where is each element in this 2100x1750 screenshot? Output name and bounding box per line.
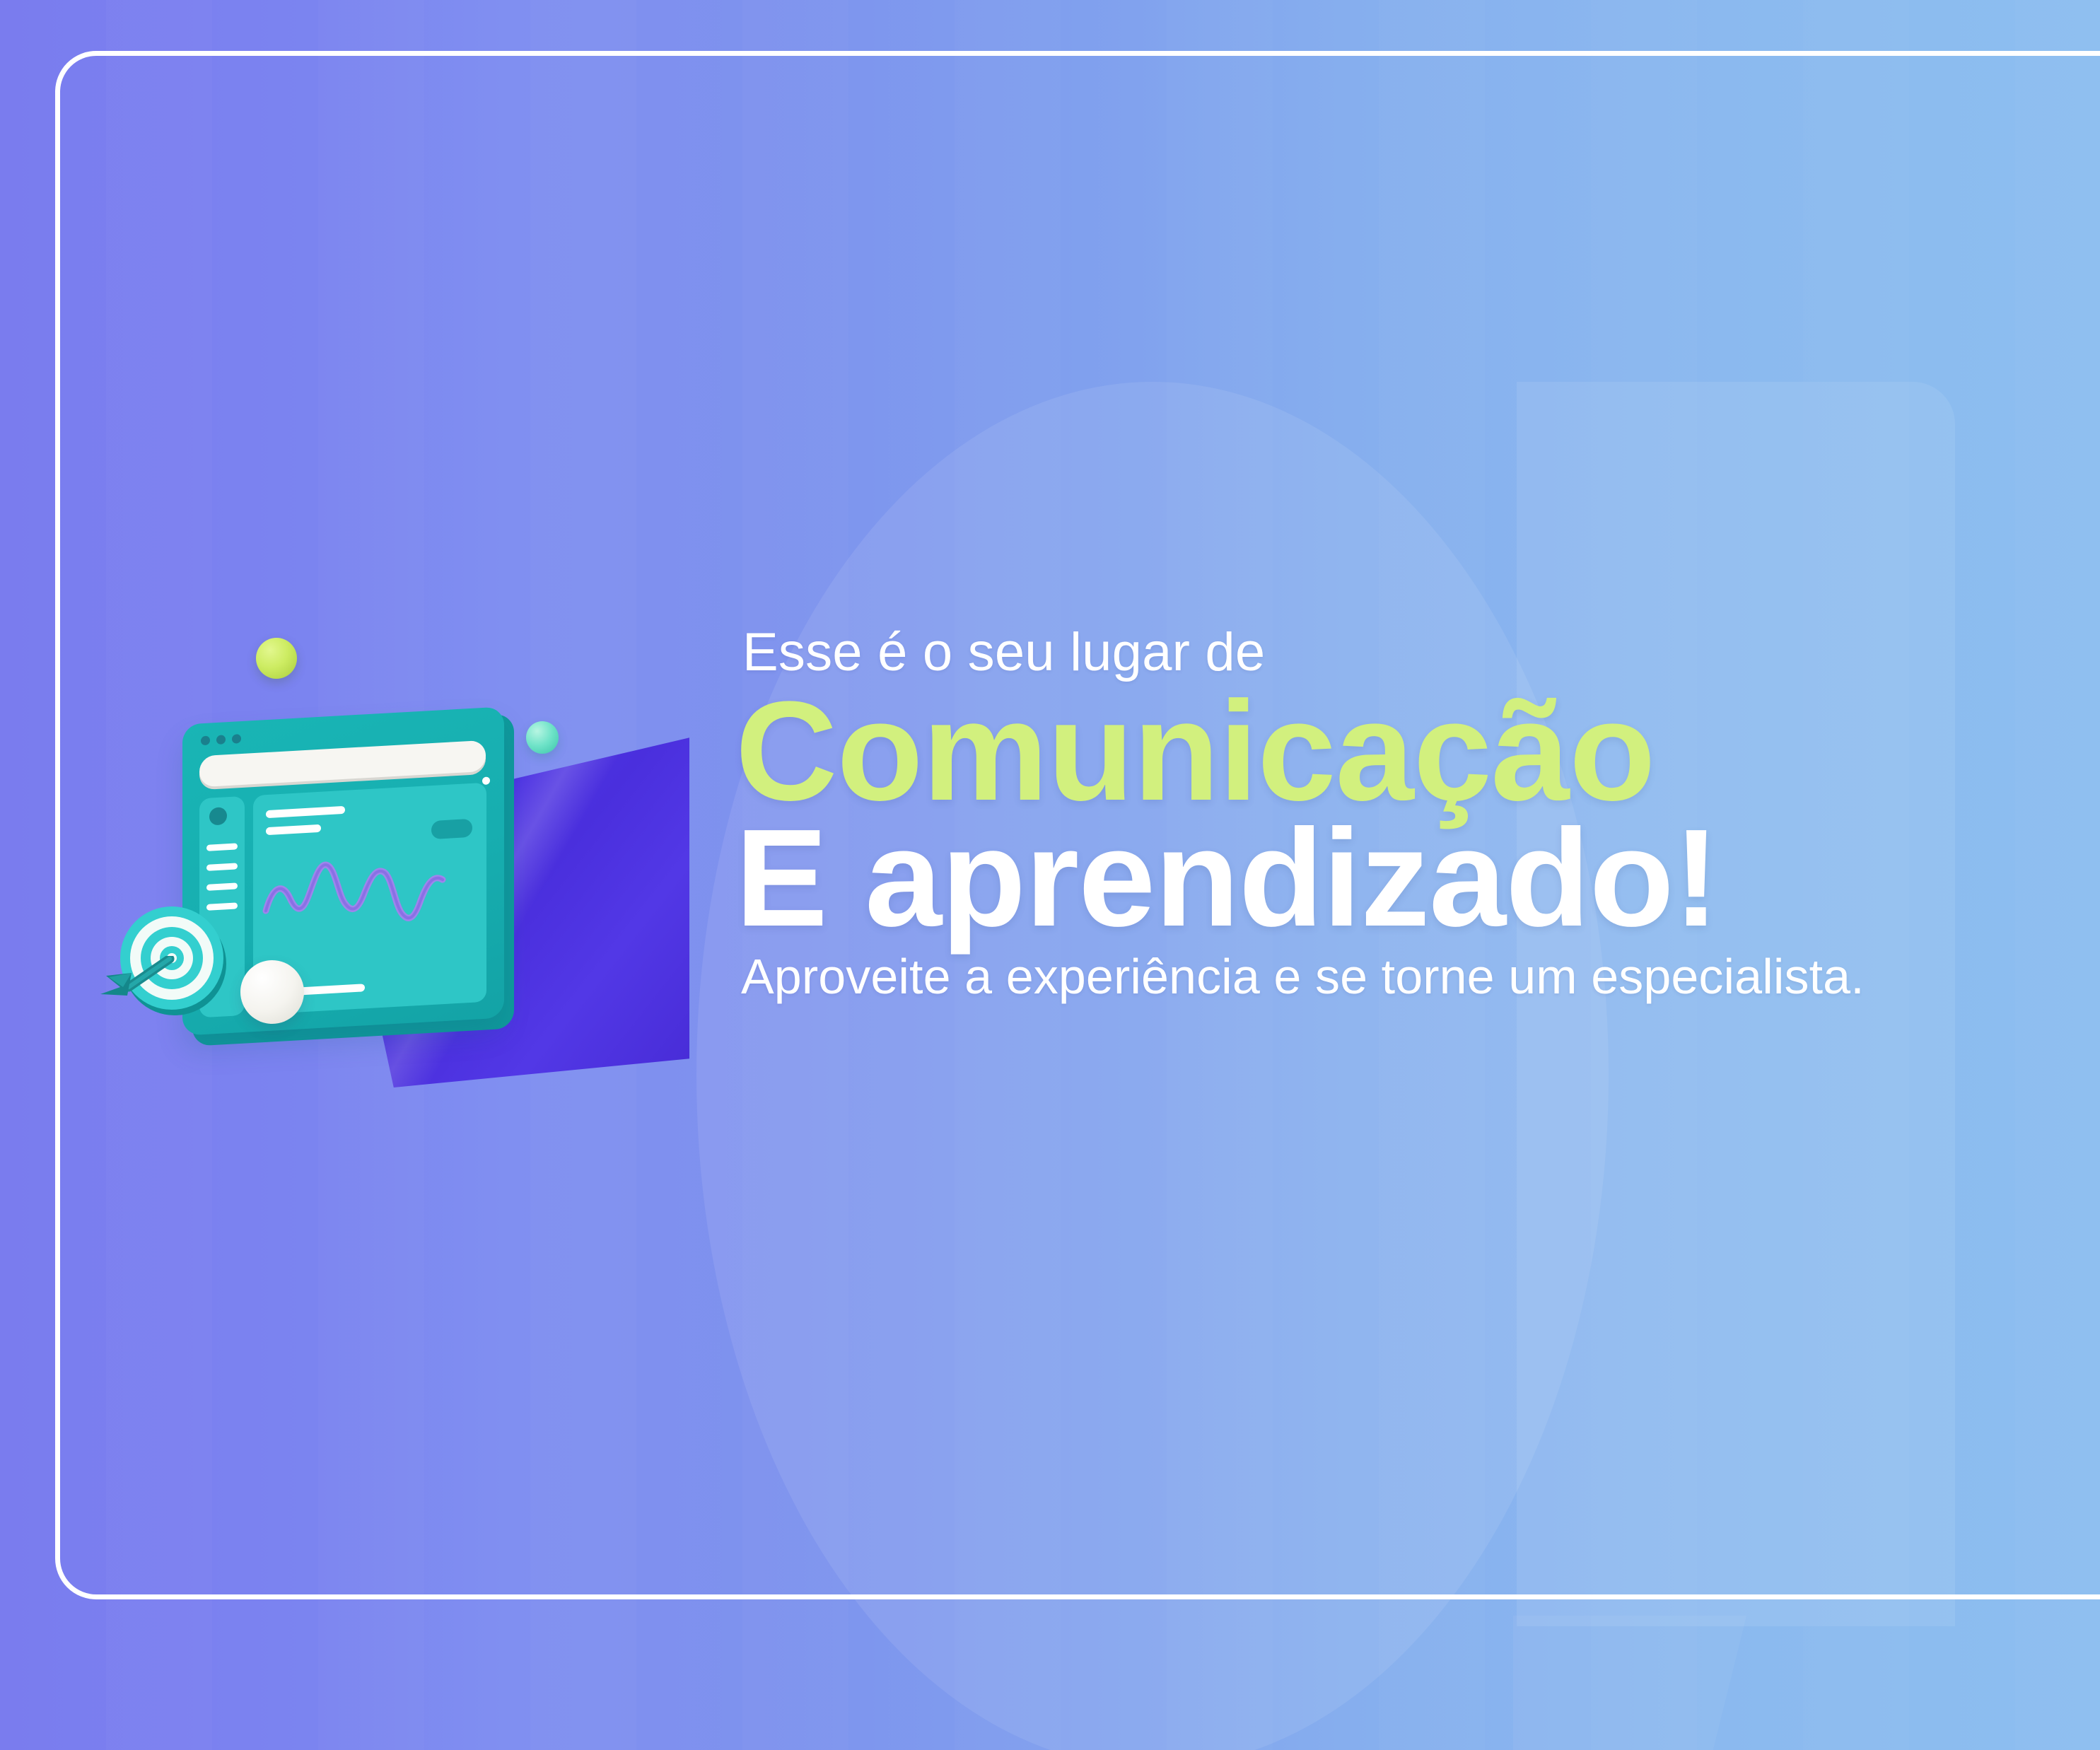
traffic-dot-2	[216, 735, 226, 745]
content-line-1	[266, 806, 345, 818]
watermark-stem	[1517, 382, 1955, 1626]
eyebrow-text: Esse é o seu lugar de	[742, 626, 2100, 679]
subcopy-text: Aproveite a experiência e se torne um es…	[741, 951, 2100, 1003]
window-traffic-dots	[201, 734, 241, 745]
window-indicator-dot	[482, 776, 490, 785]
promo-banner: Esse é o seu lugar de Comunicação E apre…	[0, 0, 2100, 1750]
traffic-dot-3	[232, 734, 241, 744]
sphere-white	[240, 960, 304, 1024]
dartboard-target	[119, 906, 225, 1013]
watermark-notch	[1513, 1616, 1746, 1750]
sphere-green	[256, 638, 297, 679]
wave-chart-icon	[262, 850, 474, 954]
headline-white: E aprendizado!	[735, 812, 2100, 944]
content-line-2	[266, 824, 321, 835]
watermark-bowl	[696, 382, 1609, 1750]
content-pill-button	[431, 819, 472, 839]
dart-arrow-icon	[96, 956, 188, 998]
sidebar-line-1	[206, 843, 238, 851]
traffic-dot-1	[201, 736, 210, 746]
sidebar-line-2	[206, 863, 238, 870]
megaphone-dashboard-illustration	[99, 615, 693, 1138]
headline-green: Comunicação	[735, 687, 2100, 817]
sphere-teal	[526, 721, 559, 754]
url-bar	[199, 740, 486, 788]
sidebar-line-3	[206, 882, 238, 890]
copy-block: Esse é o seu lugar de Comunicação E apre…	[735, 626, 2100, 1003]
avatar	[209, 807, 227, 825]
brand-letter-watermark	[696, 382, 2082, 1750]
browser-window	[182, 706, 504, 1035]
